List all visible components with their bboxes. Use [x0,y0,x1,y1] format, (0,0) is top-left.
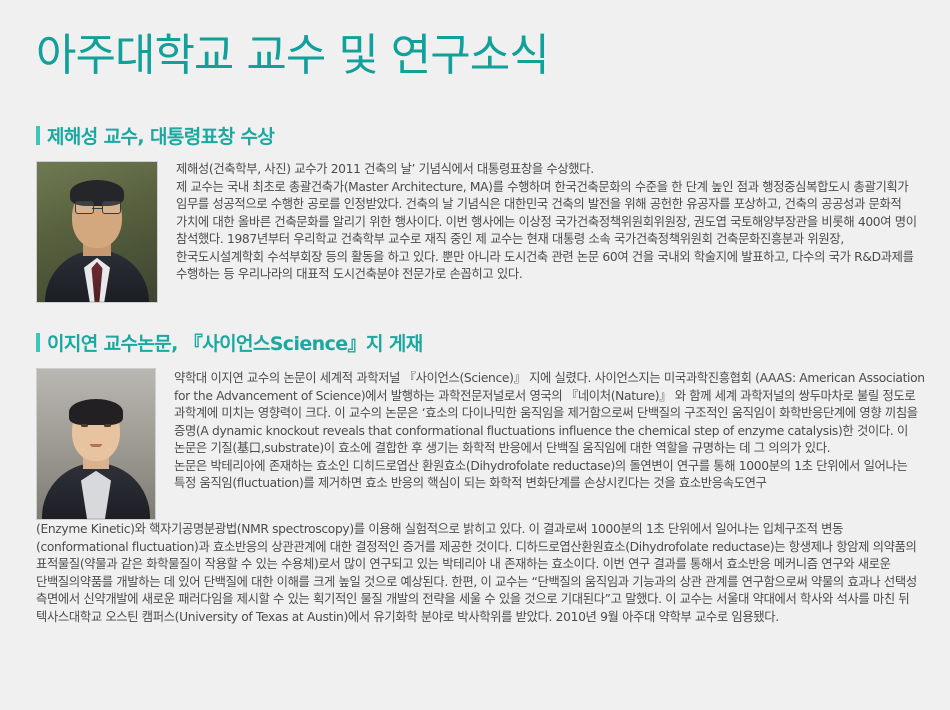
article-science-paragraph-2: 논문은 박테리아에 존재하는 효소인 디히드로엽산 환원효소(Dihydrofo… [174,458,930,493]
article-award-top: 제해성(건축학부, 사진) 교수가 2011 건축의 날’ 기념식에서 대통령표… [36,161,930,303]
section-heading-label: 제해성 교수, 대통령표창 수상 [47,122,274,149]
article-science-paper: 약학대 이지연 교수의 논문이 세계적 과학저널 『사이언스(Science)』… [20,368,930,627]
photo-hair-top-shape [69,399,123,425]
photo-glasses-bridge [92,208,102,209]
page-title: 아주대학교 교수 및 연구소식 [20,0,930,82]
article-science-top: 약학대 이지연 교수의 논문이 세계적 과학저널 『사이언스(Science)』… [36,368,930,520]
heading-accent-bar [36,126,40,145]
professor-photo-lee-ji-yeon [36,368,156,520]
article-science-paragraph-1: 약학대 이지연 교수의 논문이 세계적 과학저널 『사이언스(Science)』… [174,370,930,458]
article-science-text-rest: (Enzyme Kinetic)와 핵자기공명분광법(NMR spectrosc… [36,521,930,627]
section-heading-award: 제해성 교수, 대통령표창 수상 [20,122,930,149]
heading-accent-bar [36,333,40,352]
article-award-text: 제해성(건축학부, 사진) 교수가 2011 건축의 날’ 기념식에서 대통령표… [176,161,930,284]
article-science-text-top: 약학대 이지연 교수의 논문이 세계적 과학저널 『사이언스(Science)』… [174,368,930,493]
article-science-paragraph-3: (Enzyme Kinetic)와 핵자기공명분광법(NMR spectrosc… [36,521,930,627]
newsletter-page: 아주대학교 교수 및 연구소식 제해성 교수, 대통령표창 수상 제해성(건축학… [0,0,950,710]
article-award-body: 제 교수는 국내 최초로 총괄건축가(Master Architecture, … [176,179,930,285]
photo-eye-left [81,424,88,427]
article-award-lead: 제해성(건축학부, 사진) 교수가 2011 건축의 날’ 기념식에서 대통령표… [176,161,930,179]
photo-glasses-right [102,201,121,214]
section-heading-science-paper: 이지연 교수논문, 『사이언스Science』지 게재 [20,329,930,356]
section-heading-label: 이지연 교수논문, 『사이언스Science』지 게재 [47,329,423,356]
photo-mouth [90,444,102,447]
article-award: 제해성(건축학부, 사진) 교수가 2011 건축의 날’ 기념식에서 대통령표… [20,161,930,303]
professor-photo-je-hae-seong [36,161,158,303]
photo-eye-right [104,424,111,427]
